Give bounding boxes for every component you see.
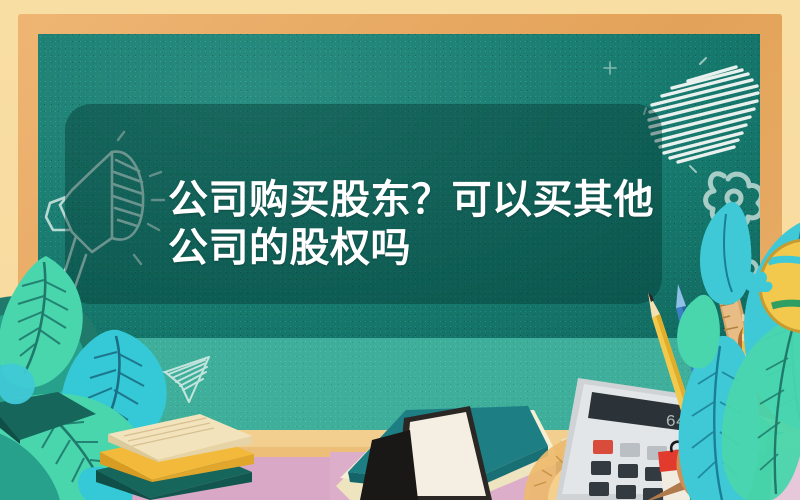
cover-image: 公司购买股东？可以买其他公司的股权吗 [0, 0, 800, 500]
accent-layer [0, 0, 800, 500]
